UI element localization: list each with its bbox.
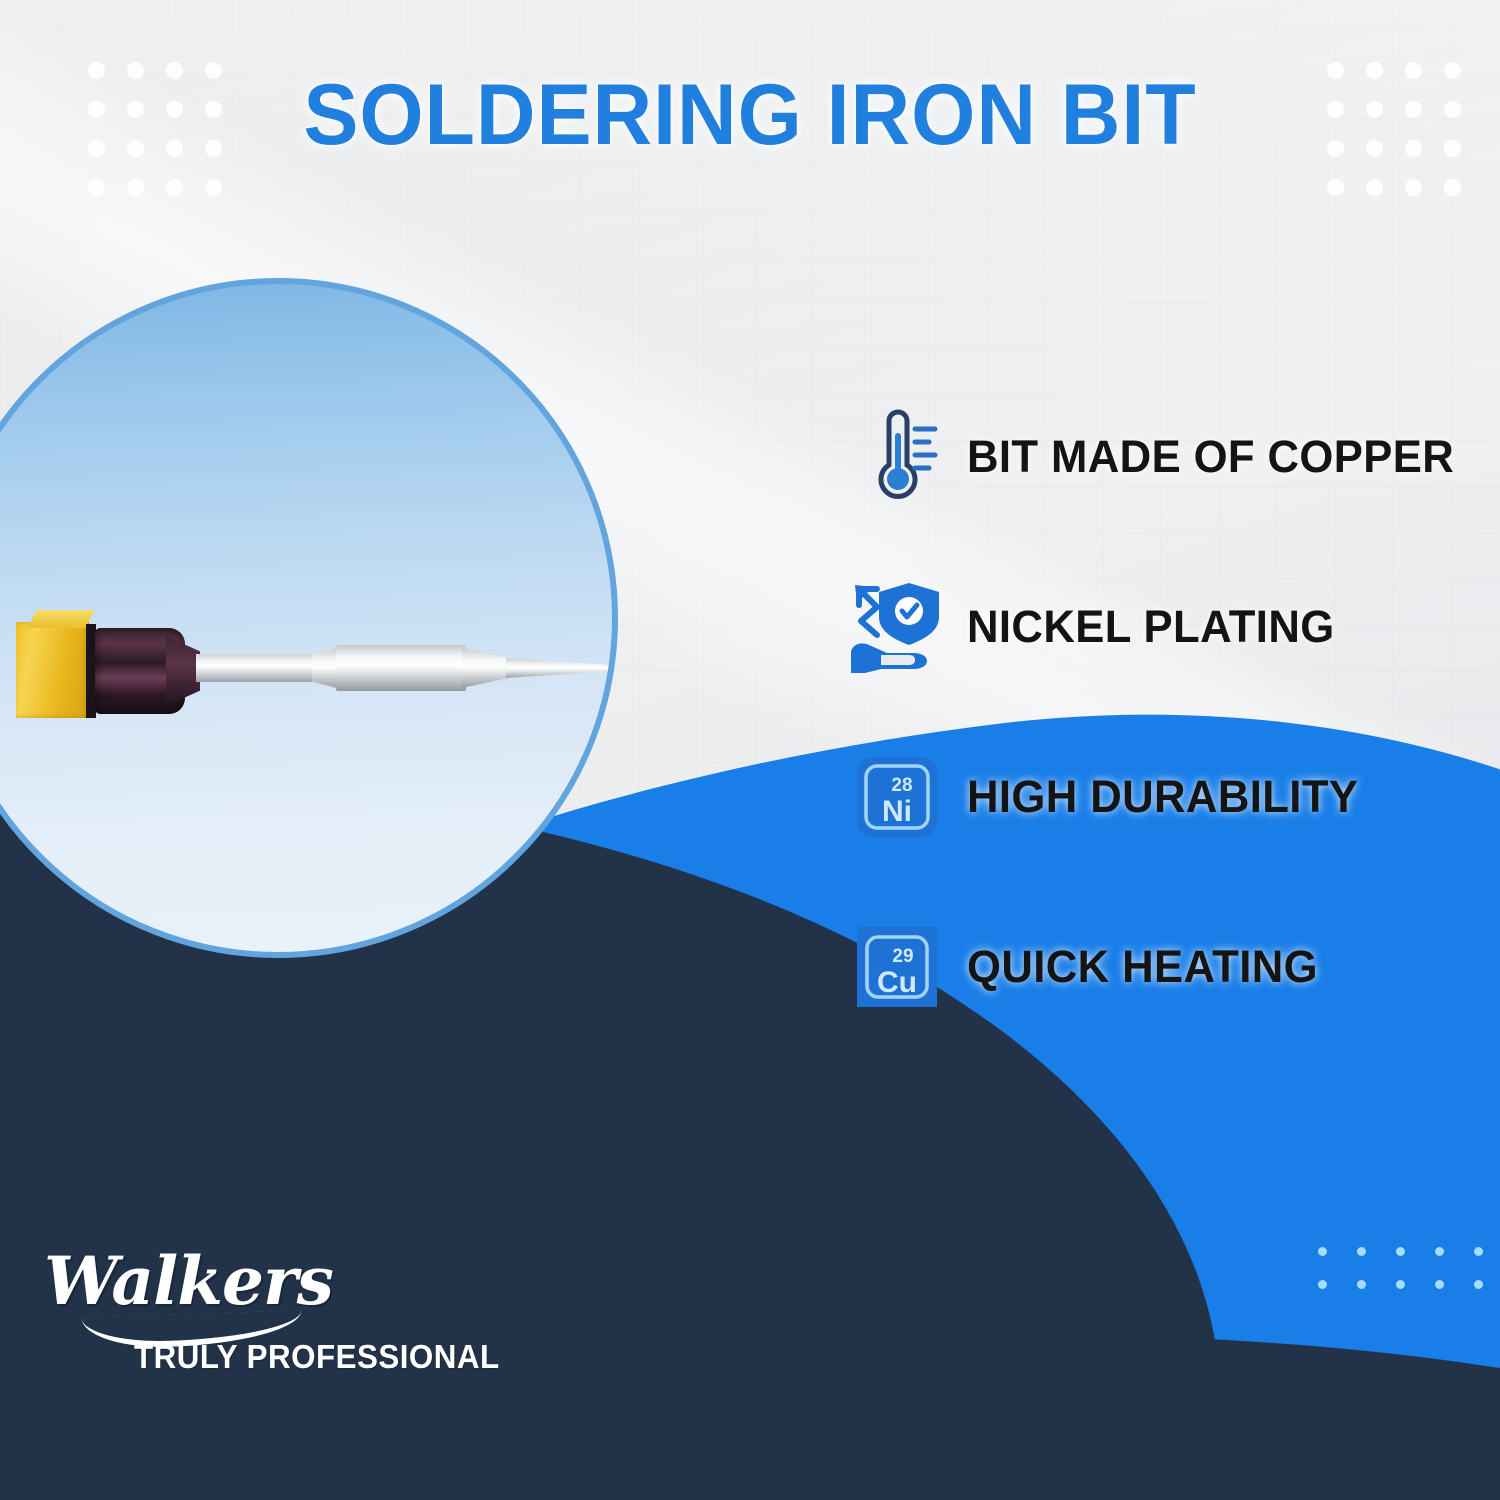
dot: [1318, 1247, 1327, 1256]
dot: [1357, 1247, 1366, 1256]
bit-yellow-block: [16, 622, 89, 718]
element-ni-icon: 28 Ni: [845, 745, 949, 849]
feature-row-high-durability: 28 Ni HIGH DURABILITY: [845, 712, 1465, 882]
svg-text:Cu: Cu: [877, 966, 917, 999]
dot: [127, 179, 144, 196]
brand-wordmark: Walkers: [44, 1248, 519, 1314]
dot: [1444, 179, 1461, 196]
bit-tapered-tip: [506, 658, 614, 678]
feature-label: NICKEL PLATING: [967, 601, 1335, 653]
dot: [1318, 1280, 1327, 1289]
bit-metal-shaft-section-4: [462, 648, 510, 688]
bit-metal-shaft-section-1: [196, 654, 316, 682]
dot: [1435, 1247, 1444, 1256]
element-cu-icon: 29 Cu: [845, 915, 949, 1019]
dot: [205, 179, 222, 196]
feature-label: BIT MADE OF COPPER: [967, 431, 1454, 483]
svg-text:29: 29: [892, 946, 913, 967]
page-title: SOLDERING IRON BIT: [30, 72, 1470, 158]
dot: [1474, 1280, 1483, 1289]
soldering-iron-bit-image: [16, 602, 616, 722]
feature-label: HIGH DURABILITY: [967, 771, 1358, 823]
thermometer-icon: [845, 405, 949, 509]
svg-text:Ni: Ni: [882, 795, 912, 828]
product-infographic-poster: C4390 R2 C3252 PA0620D PA09 U2 L6203 CN3…: [0, 0, 1500, 1500]
feature-row-nickel-plating: NICKEL PLATING: [845, 542, 1465, 712]
dot: [1327, 179, 1344, 196]
dot: [1357, 1280, 1366, 1289]
bit-metal-shaft-section-3: [336, 645, 466, 691]
decorative-dot-grid-bottom-right: [1318, 1247, 1483, 1289]
dot: [1405, 179, 1422, 196]
feature-label: QUICK HEATING: [967, 941, 1318, 993]
dot: [1366, 179, 1383, 196]
feature-row-quick-heating: 29 Cu QUICK HEATING: [845, 882, 1465, 1052]
dot: [88, 179, 105, 196]
dot: [1396, 1280, 1405, 1289]
bit-ferrule-taper: [166, 636, 200, 706]
svg-text:28: 28: [891, 775, 912, 796]
dot: [1396, 1247, 1405, 1256]
feature-list: BIT MADE OF COPPER: [845, 372, 1465, 1052]
brand-logo: Walkers TRULY PROFESSIONAL: [44, 1248, 519, 1376]
dot: [1474, 1247, 1483, 1256]
dot: [1435, 1280, 1444, 1289]
brand-tagline: TRULY PROFESSIONAL: [134, 1338, 500, 1376]
shield-hand-icon: [845, 575, 949, 679]
bit-yellow-block-highlight: [27, 610, 95, 628]
dot: [166, 179, 183, 196]
feature-row-bit-made-of-copper: BIT MADE OF COPPER: [845, 372, 1465, 542]
